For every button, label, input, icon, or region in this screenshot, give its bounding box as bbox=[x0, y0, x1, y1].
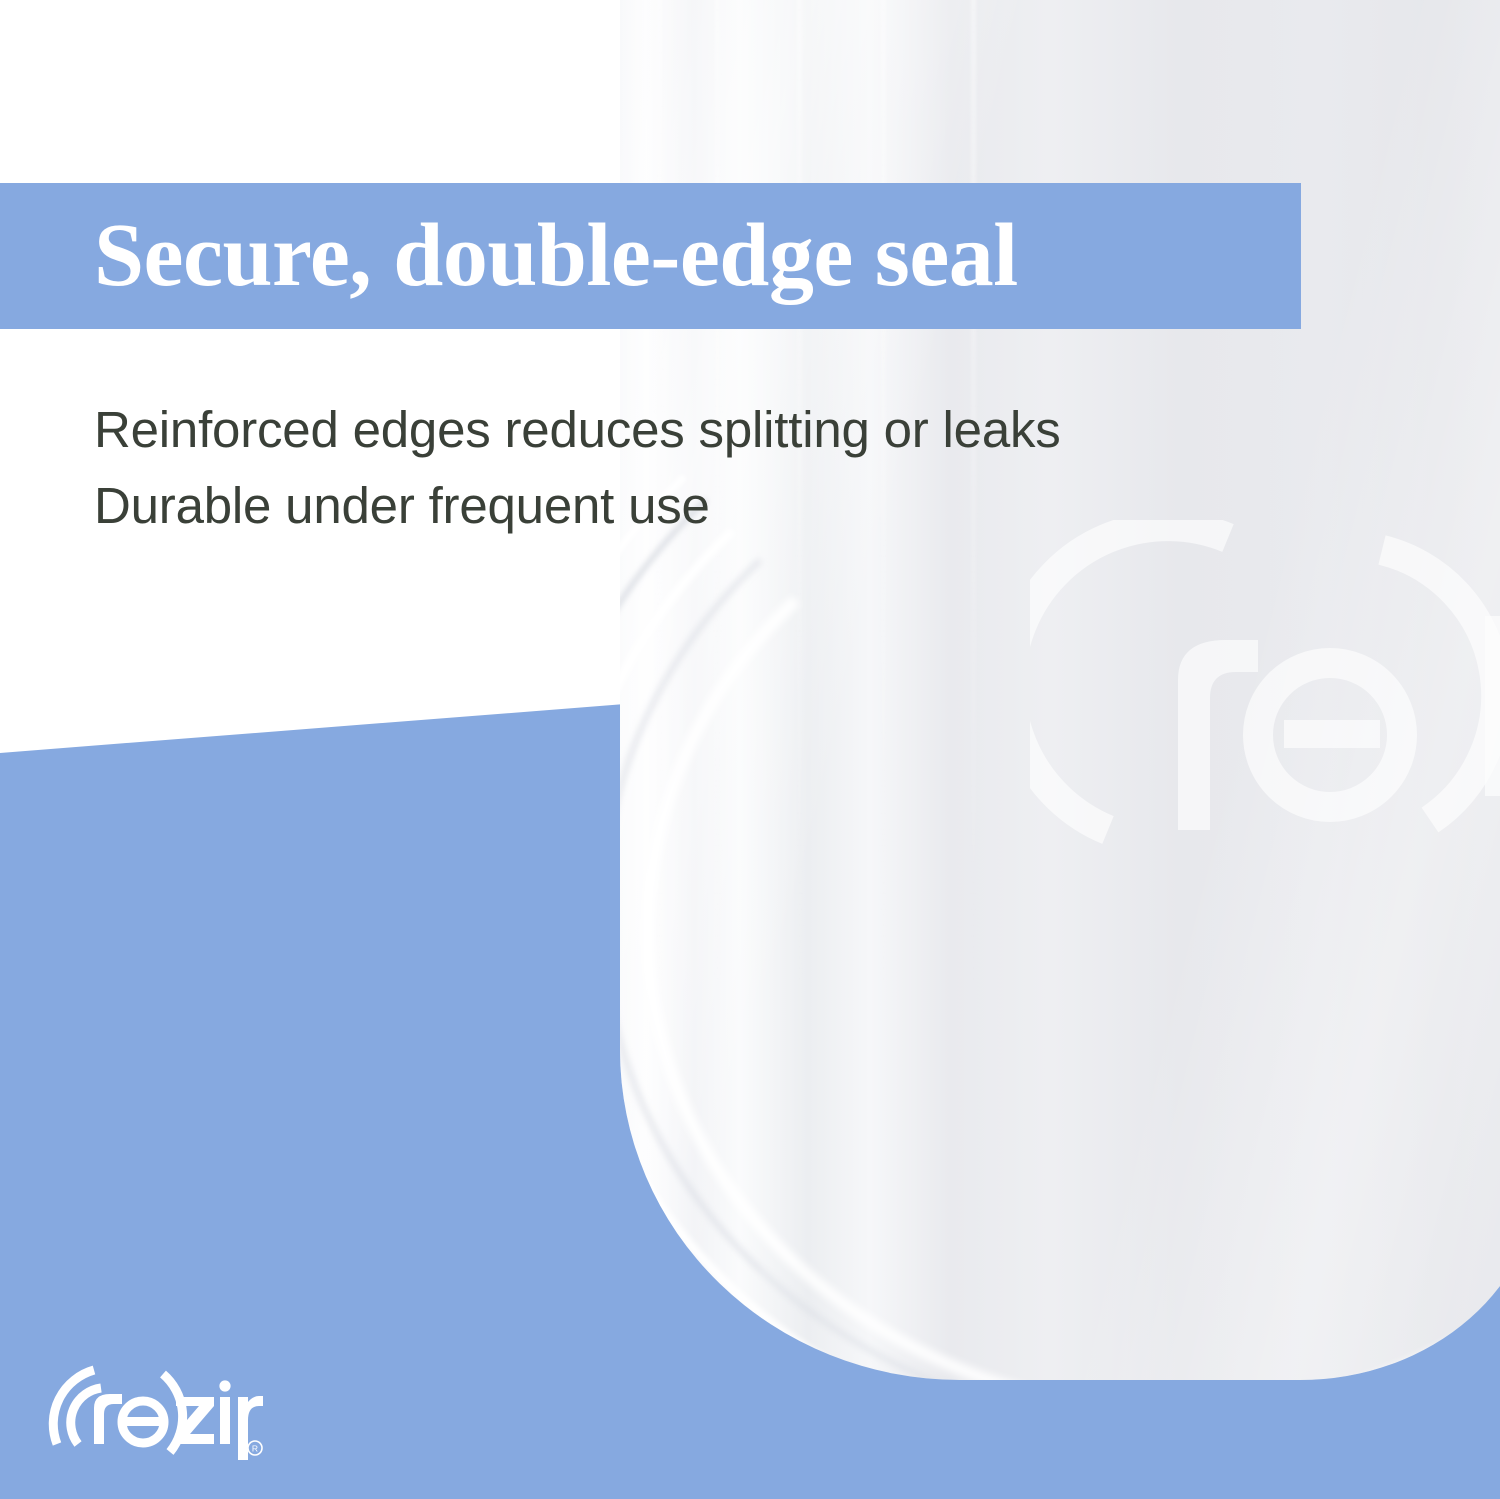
feature-bullet-line: Reinforced edges reduces splitting or le… bbox=[94, 392, 1274, 468]
headline-banner: Secure, double-edge seal bbox=[0, 183, 1301, 329]
registered-trademark-icon: R bbox=[248, 1441, 262, 1455]
embossed-rezip-watermark-icon bbox=[1030, 520, 1500, 850]
page-title: Secure, double-edge seal bbox=[0, 211, 1018, 301]
svg-text:R: R bbox=[252, 1444, 258, 1454]
feature-bullet-line: Durable under frequent use bbox=[94, 468, 1274, 544]
seal-ridge bbox=[620, 400, 1500, 1380]
feature-description-block: Reinforced edges reduces splitting or le… bbox=[94, 392, 1274, 544]
seal-ridge bbox=[642, 446, 1500, 1380]
brand-logo-rezip: R bbox=[48, 1352, 263, 1464]
product-feature-card: Secure, double-edge seal Reinforced edge… bbox=[0, 0, 1500, 1499]
rezip-wordmark-icon: R bbox=[48, 1352, 263, 1464]
